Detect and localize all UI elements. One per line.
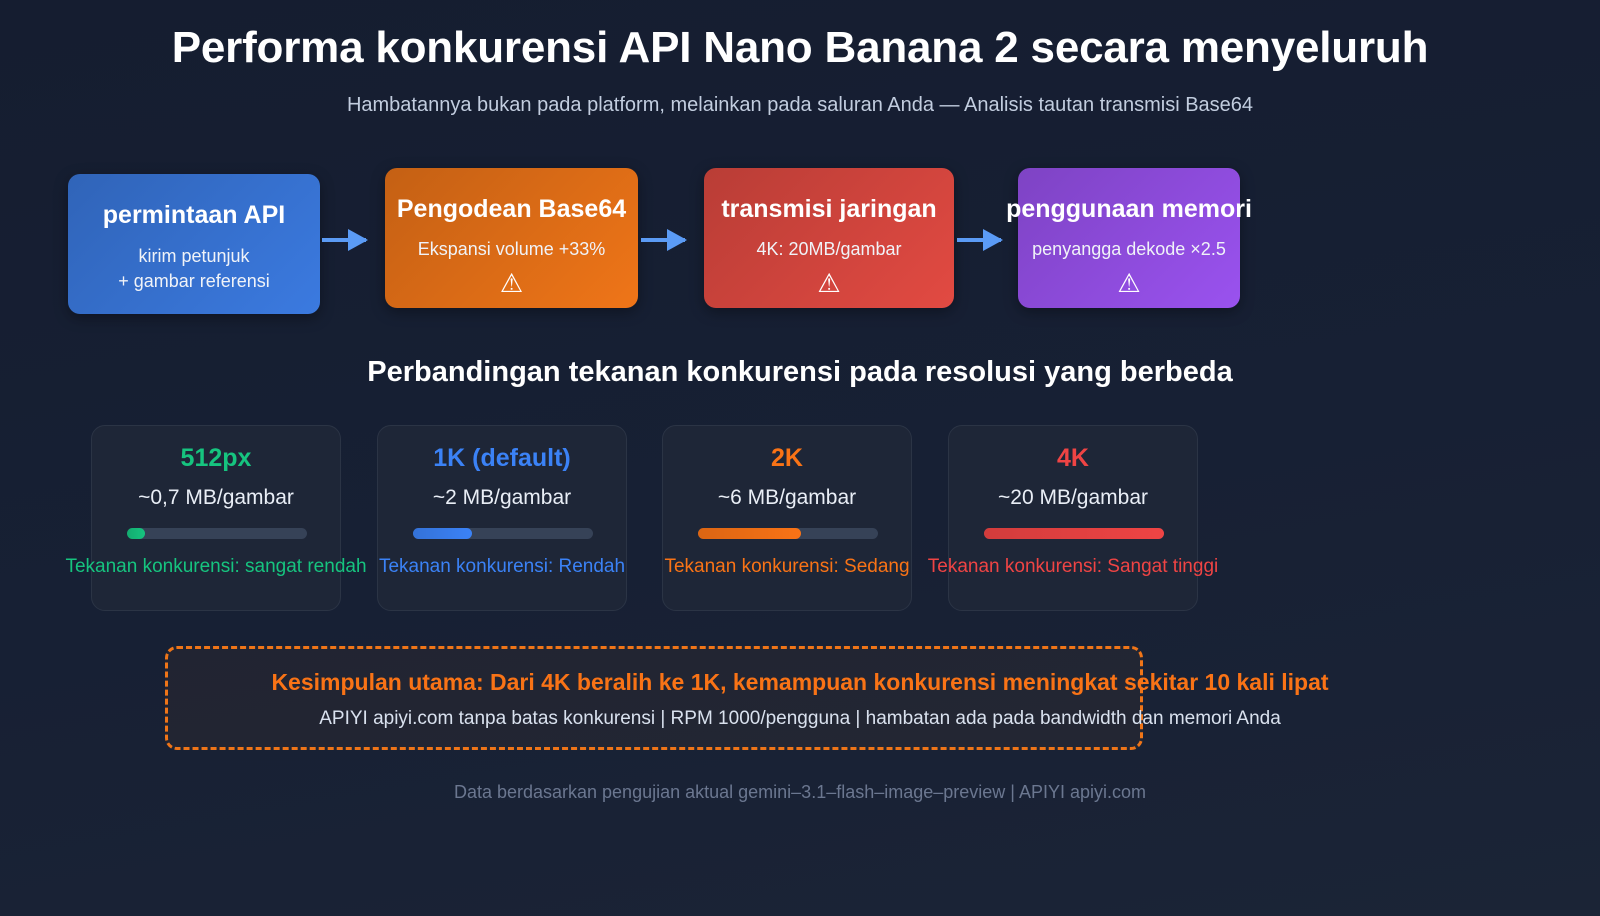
pressure-note: Tekanan konkurensi: sangat rendah	[65, 556, 366, 578]
resolution-size-value: ~6 MB/gambar	[718, 486, 856, 510]
flow-step-memory-usage: penggunaan memori penyangga dekode ×2.5 …	[1018, 168, 1240, 308]
flow-step-title: penggunaan memori	[1006, 196, 1252, 224]
footer-note: Data berdasarkan pengujian aktual gemini…	[0, 782, 1600, 803]
resolution-size-value: ~20 MB/gambar	[998, 486, 1148, 510]
flow-step-api-request: permintaan API kirim petunjuk + gambar r…	[68, 174, 320, 314]
resolution-label: 2K	[771, 444, 803, 473]
page-title: Performa konkurensi API Nano Banana 2 se…	[0, 24, 1600, 72]
resolution-label: 512px	[181, 444, 252, 473]
resolution-card-1k: 1K (default) ~2 MB/gambar Tekanan konkur…	[377, 425, 627, 611]
pressure-bar-fill	[698, 528, 801, 539]
warning-triangle-icon: ⚠	[817, 270, 840, 296]
flow-step-network-transmission: transmisi jaringan 4K: 20MB/gambar ⚠	[704, 168, 954, 308]
pressure-bar-track	[984, 528, 1164, 539]
pressure-bar-track	[413, 528, 593, 539]
resolution-comparison-cards: 512px ~0,7 MB/gambar Tekanan konkurensi:…	[0, 425, 1600, 615]
flow-arrow-icon-2	[641, 238, 685, 242]
flow-step-base64-encoding: Pengodean Base64 Ekspansi volume +33% ⚠	[385, 168, 638, 308]
conclusion-main-text: Kesimpulan utama: Dari 4K beralih ke 1K,…	[271, 669, 1328, 696]
page-subtitle: Hambatannya bukan pada platform, melaink…	[0, 94, 1600, 117]
pressure-note: Tekanan konkurensi: Rendah	[379, 556, 625, 578]
flow-step-title: permintaan API	[103, 202, 285, 230]
flow-step-title: Pengodean Base64	[397, 196, 626, 224]
conclusion-callout-box	[165, 646, 1143, 750]
flow-step-subtitle: Ekspansi volume +33%	[418, 237, 606, 261]
resolution-card-4k: 4K ~20 MB/gambar Tekanan konkurensi: San…	[948, 425, 1198, 611]
warning-triangle-icon: ⚠	[500, 270, 523, 296]
page-header: Performa konkurensi API Nano Banana 2 se…	[0, 0, 1600, 117]
conclusion-sub-text: APIYI apiyi.com tanpa batas konkurensi |…	[319, 708, 1281, 730]
flow-step-subtitle-line1: kirim petunjuk	[138, 244, 249, 268]
resolution-size-value: ~0,7 MB/gambar	[138, 486, 294, 510]
pressure-bar-track	[127, 528, 307, 539]
warning-triangle-icon: ⚠	[1117, 270, 1140, 296]
pressure-bar-fill	[413, 528, 472, 539]
pipeline-flow-diagram: permintaan API kirim petunjuk + gambar r…	[0, 168, 1600, 328]
resolution-card-2k: 2K ~6 MB/gambar Tekanan konkurensi: Seda…	[662, 425, 912, 611]
resolution-card-512px: 512px ~0,7 MB/gambar Tekanan konkurensi:…	[91, 425, 341, 611]
pressure-bar-fill	[984, 528, 1164, 539]
resolution-label: 4K	[1057, 444, 1089, 473]
section-title: Perbandingan tekanan konkurensi pada res…	[0, 356, 1600, 389]
flow-arrow-icon-1	[322, 238, 366, 242]
pressure-note: Tekanan konkurensi: Sedang	[664, 556, 909, 578]
pressure-bar-fill	[127, 528, 145, 539]
flow-step-subtitle: 4K: 20MB/gambar	[756, 237, 901, 261]
resolution-size-value: ~2 MB/gambar	[433, 486, 571, 510]
flow-step-subtitle: penyangga dekode ×2.5	[1032, 237, 1226, 261]
flow-arrow-icon-3	[957, 238, 1001, 242]
pressure-note: Tekanan konkurensi: Sangat tinggi	[928, 556, 1218, 578]
resolution-label: 1K (default)	[433, 444, 571, 473]
pressure-bar-track	[698, 528, 878, 539]
flow-step-subtitle-line2: + gambar referensi	[118, 269, 270, 293]
flow-step-title: transmisi jaringan	[721, 196, 936, 224]
